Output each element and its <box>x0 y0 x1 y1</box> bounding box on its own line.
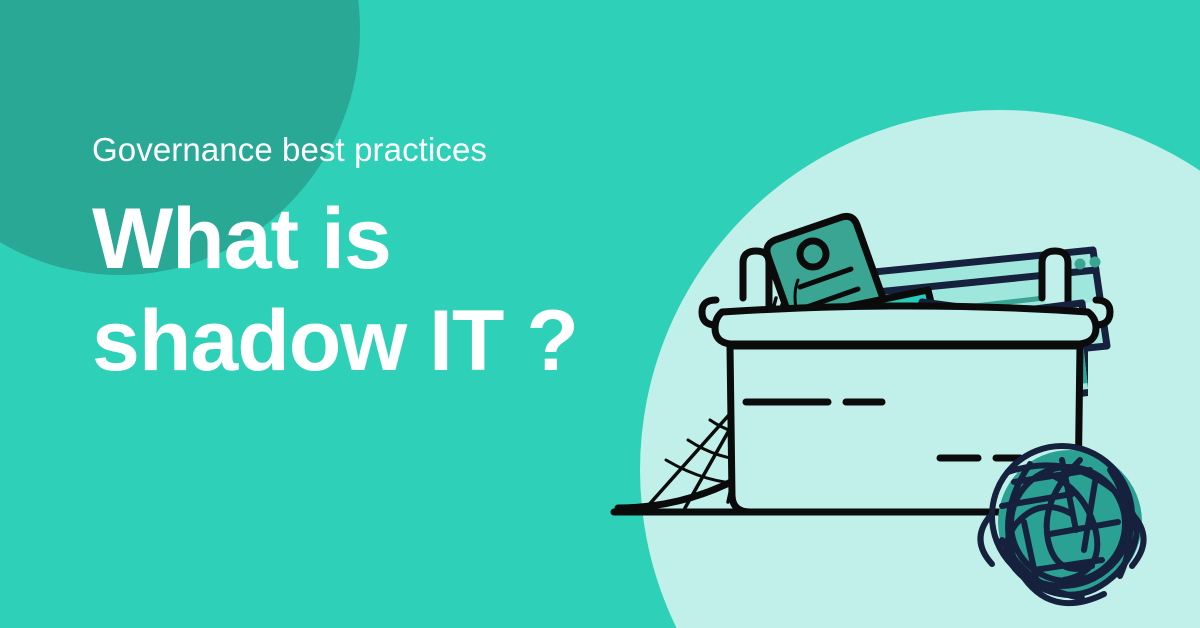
shadow-it-basket-illustration <box>610 120 1200 628</box>
banner-root: Governance best practices What is shadow… <box>0 0 1200 628</box>
